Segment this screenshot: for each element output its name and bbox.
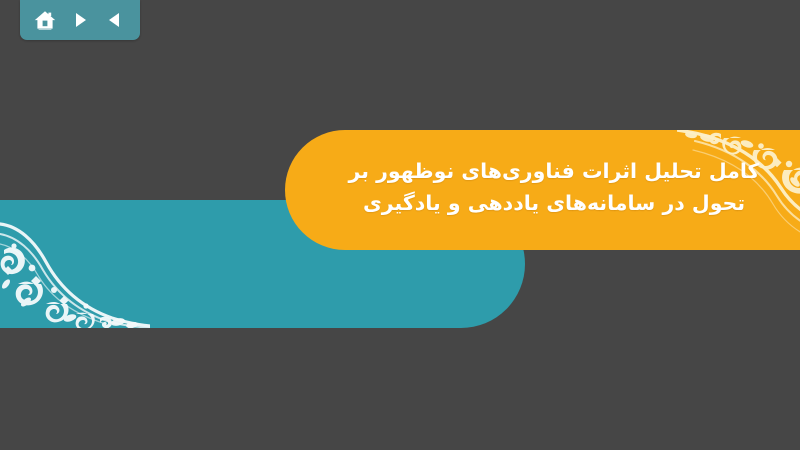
navigation-bar <box>20 0 140 40</box>
slide-title-line-1: کامل تحلیل اثرات فناوری‌های نوظهور بر <box>344 156 764 188</box>
slide-title-line-2: تحول در سامانه‌های یاددهی و یادگیری <box>344 188 764 220</box>
title-panel: کامل تحلیل اثرات فناوری‌های نوظهور بر تح… <box>285 130 800 250</box>
triangle-left-icon <box>105 10 125 30</box>
previous-slide-button[interactable] <box>100 5 130 35</box>
arabesque-corner-ornament-mirrored <box>0 206 150 328</box>
triangle-right-icon <box>70 10 90 30</box>
slide-stage: کامل تحلیل اثرات فناوری‌های نوظهور بر تح… <box>0 0 800 450</box>
home-icon <box>33 8 57 32</box>
home-button[interactable] <box>30 5 60 35</box>
next-slide-button[interactable] <box>65 5 95 35</box>
slide-title: کامل تحلیل اثرات فناوری‌های نوظهور بر تح… <box>344 156 764 220</box>
